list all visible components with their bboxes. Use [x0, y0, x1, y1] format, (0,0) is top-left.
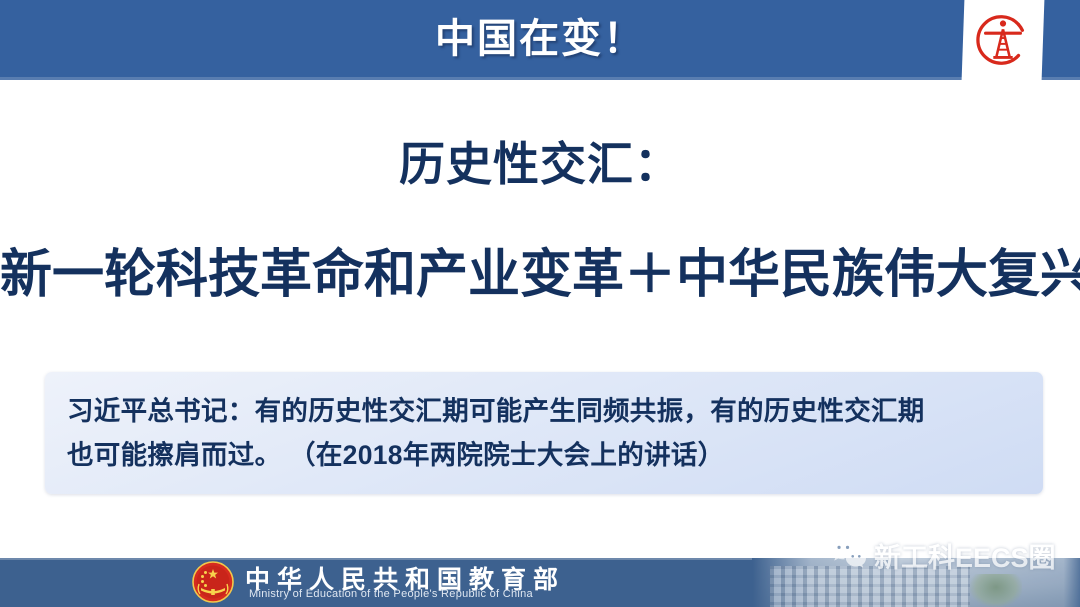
- cup-tower-circle-logo-icon: [972, 9, 1034, 71]
- presentation-slide: 中国在变！ 历史性交汇： 新一轮科技革命和产业变革＋中华民族伟大复兴: [0, 0, 1080, 607]
- main-heading-line-1: 历史性交汇：: [0, 128, 1080, 194]
- china-national-emblem-icon: [191, 560, 235, 604]
- main-heading-line-2: 新一轮科技革命和产业变革＋中华民族伟大复兴: [0, 232, 1080, 307]
- quote-line-1: 习近平总书记：有的历史性交汇期可能产生同频共振，有的历史性交汇期: [67, 389, 1021, 433]
- wechat-icon: [828, 537, 868, 574]
- university-logo-panel: [962, 0, 1045, 80]
- watermark-text: 新工科EECS圈: [874, 536, 1056, 575]
- wechat-watermark: 新工科EECS圈: [828, 536, 1056, 575]
- ministry-name-en: Ministry of Education of the People's Re…: [249, 588, 533, 600]
- tree-foliage: [970, 574, 1022, 607]
- quote-line-2: 也可能擦肩而过。 （在2018年两院院士大会上的讲话）: [67, 433, 1021, 477]
- slide-header-title: 中国在变！: [0, 11, 1080, 67]
- slide-body: 历史性交汇： 新一轮科技革命和产业变革＋中华民族伟大复兴 习近平总书记：有的历史…: [0, 80, 1080, 558]
- quote-callout-box: 习近平总书记：有的历史性交汇期可能产生同频共振，有的历史性交汇期 也可能擦肩而过…: [45, 372, 1043, 494]
- slide-header-bar: 中国在变！: [0, 0, 1080, 80]
